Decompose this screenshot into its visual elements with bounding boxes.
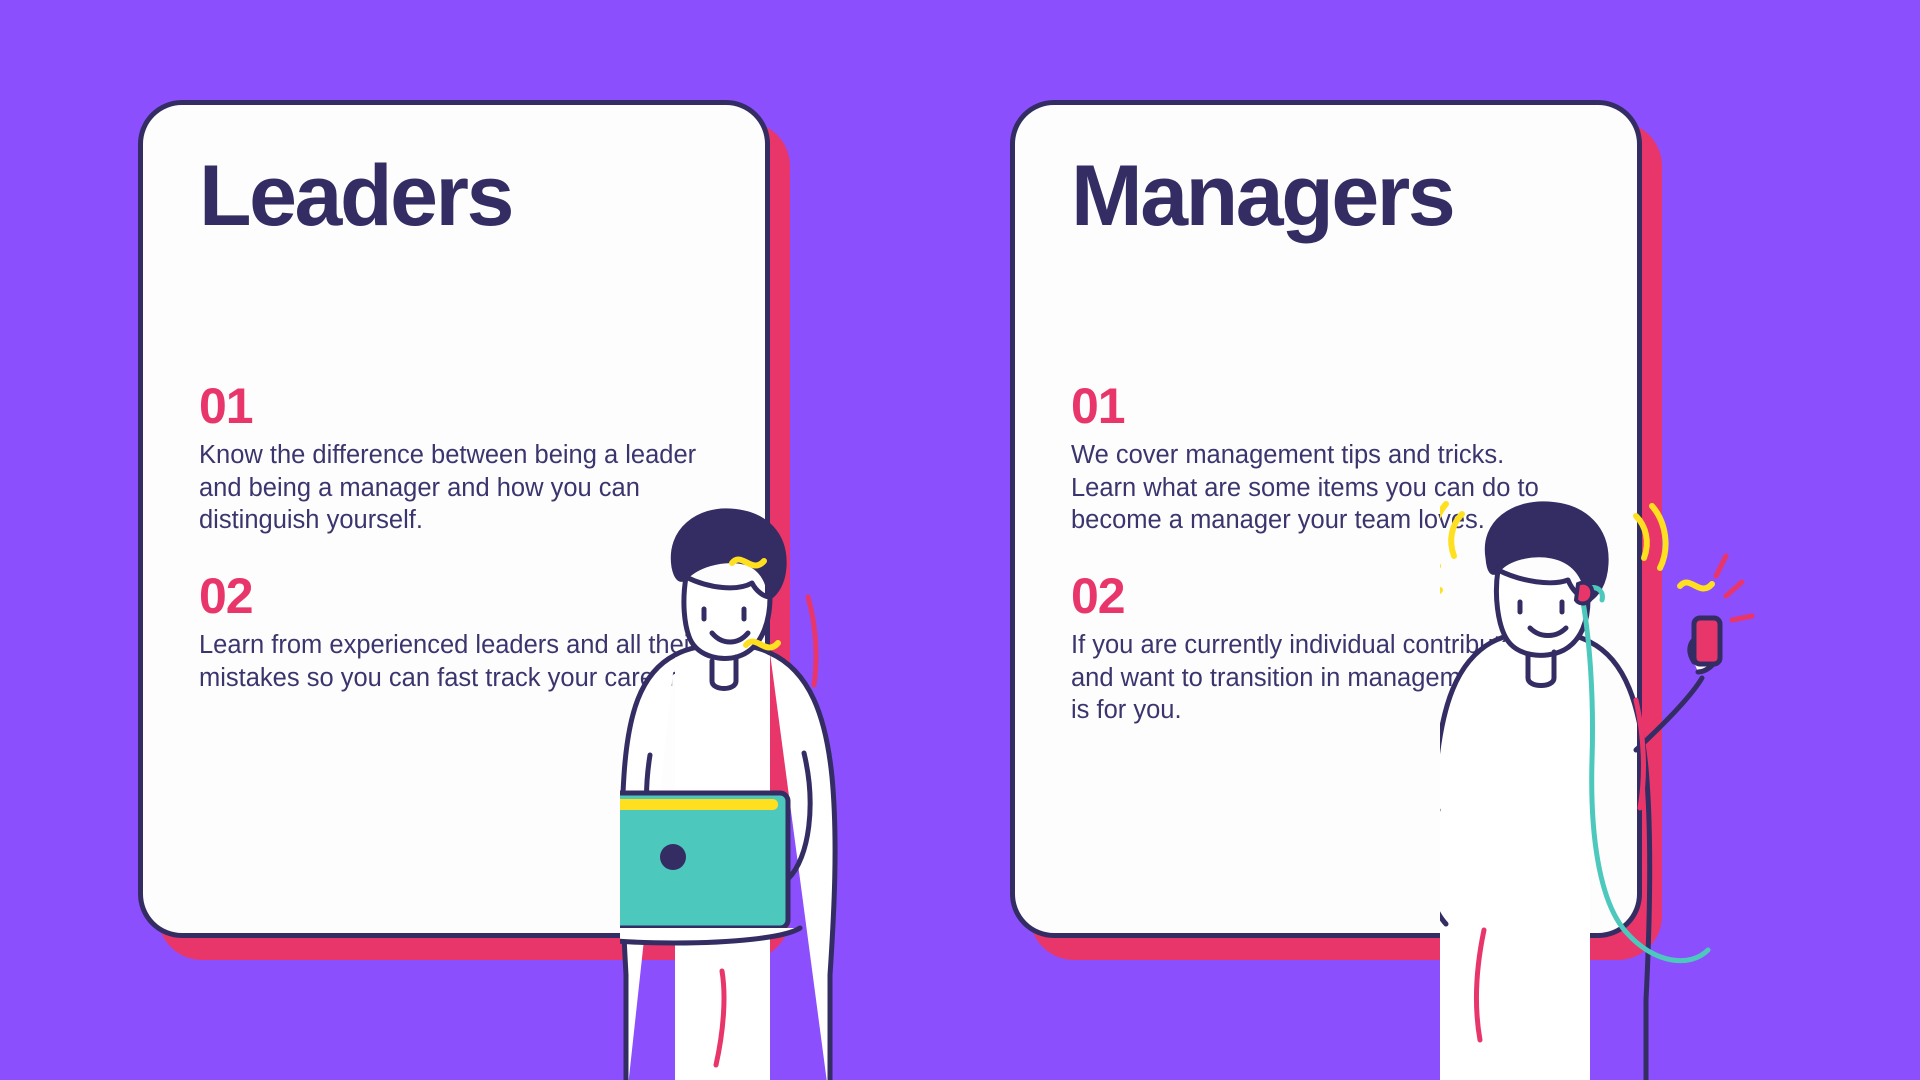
section-number: 02 (199, 571, 709, 621)
section-list: 01 Know the difference between being a l… (199, 381, 709, 694)
card-surface: Leaders 01 Know the difference between b… (138, 100, 770, 938)
page-title: Managers (1071, 153, 1581, 239)
section-number: 01 (199, 381, 709, 431)
slide-canvas: Leaders 01 Know the difference between b… (0, 0, 1920, 1080)
list-item: 02 If you are currently individual contr… (1071, 571, 1581, 727)
section-body: Learn from experienced leaders and all t… (199, 629, 699, 694)
card-surface: Managers 01 We cover management tips and… (1010, 100, 1642, 938)
list-item: 02 Learn from experienced leaders and al… (199, 571, 709, 694)
list-item: 01 We cover management tips and tricks. … (1071, 381, 1581, 537)
section-list: 01 We cover management tips and tricks. … (1071, 381, 1581, 727)
card-managers: Managers 01 We cover management tips and… (1010, 100, 1670, 960)
section-body: Know the difference between being a lead… (199, 439, 699, 537)
list-item: 01 Know the difference between being a l… (199, 381, 709, 537)
section-body: We cover management tips and tricks. Lea… (1071, 439, 1571, 537)
card-leaders: Leaders 01 Know the difference between b… (138, 100, 798, 960)
page-title: Leaders (199, 153, 709, 239)
section-body: If you are currently individual contribu… (1071, 629, 1571, 727)
section-number: 02 (1071, 571, 1581, 621)
phone-icon (1694, 618, 1720, 664)
section-number: 01 (1071, 381, 1581, 431)
